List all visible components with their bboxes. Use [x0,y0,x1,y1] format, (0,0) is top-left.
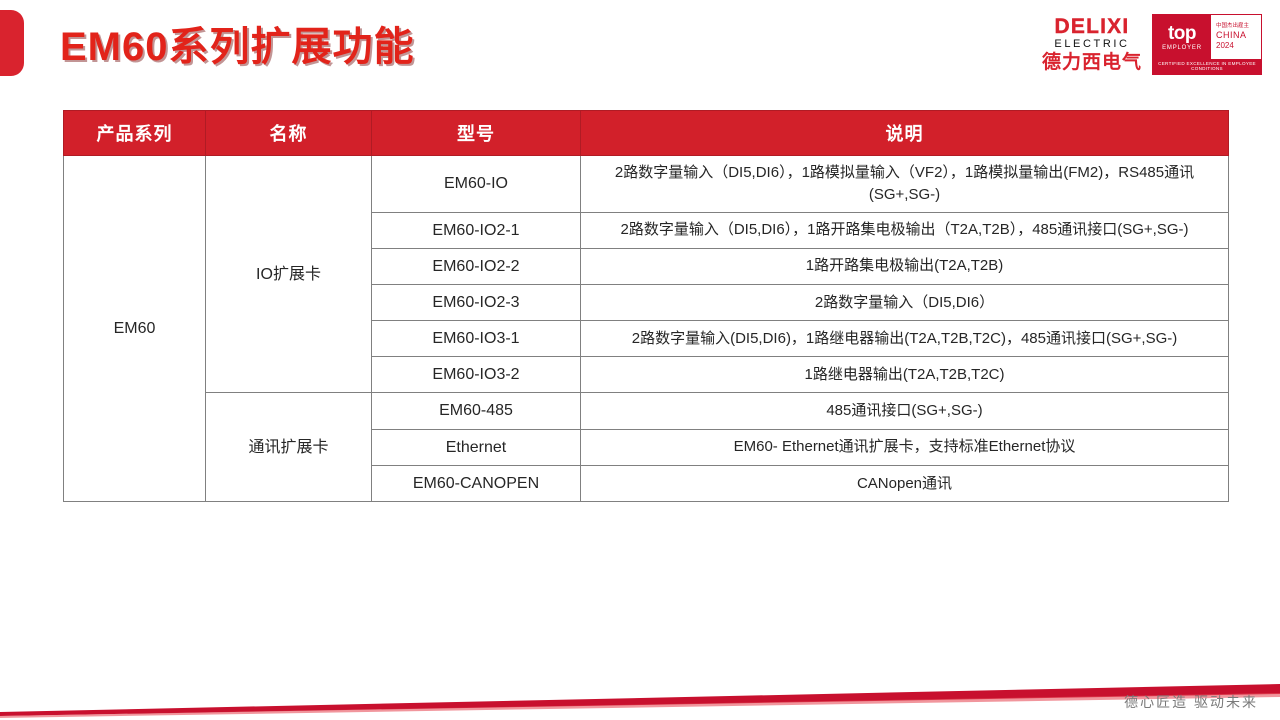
cell-model: Ethernet [372,429,581,465]
column-header-model: 型号 [372,111,581,156]
table-header-row: 产品系列 名称 型号 说明 [64,111,1229,156]
cell-description: 1路开路集电极输出(T2A,T2B) [581,248,1229,284]
top-employer-badge: top EMPLOYER 中国杰出雇主 CHINA 2024 CERTIFIED… [1152,14,1262,75]
top-employer-cn-label: 中国杰出雇主 [1216,23,1261,30]
footer-decorative-line [0,660,1280,720]
cell-description: 2路数字量输入（DI5,DI6） [581,284,1229,320]
table-body: EM60 IO扩展卡 EM60-IO 2路数字量输入（DI5,DI6），1路模拟… [64,156,1229,502]
cell-model: EM60-IO2-1 [372,212,581,248]
top-employer-country: CHINA [1216,30,1261,41]
table-header: 产品系列 名称 型号 说明 [64,111,1229,156]
cell-description: 2路数字量输入（DI5,DI6），1路模拟量输入（VF2），1路模拟量输出(FM… [581,156,1229,213]
cell-model: EM60-IO3-2 [372,357,581,393]
footer-slogan: 德心匠造 驱动未来 [1124,692,1258,712]
top-employer-year: 2024 [1216,41,1261,51]
column-header-name: 名称 [206,111,372,156]
top-employer-badge-main: top EMPLOYER 中国杰出雇主 CHINA 2024 [1153,15,1261,59]
cell-description: CANopen通讯 [581,465,1229,501]
top-employer-badge-details: 中国杰出雇主 CHINA 2024 [1211,15,1261,59]
delixi-brand-cn: 德力西电气 [1042,53,1142,72]
expansion-spec-table: 产品系列 名称 型号 说明 EM60 IO扩展卡 EM60-IO 2路数字量输入… [63,110,1229,502]
cell-product-series: EM60 [64,156,206,502]
cell-model: EM60-IO2-2 [372,248,581,284]
cell-group-name-comm: 通讯扩展卡 [206,393,372,502]
delixi-logo: DELIXI ELECTRIC 德力西电气 [1042,16,1142,72]
cell-description: 1路继电器输出(T2A,T2B,T2C) [581,357,1229,393]
cell-description: EM60- Ethernet通讯扩展卡，支持标准Ethernet协议 [581,429,1229,465]
logo-area: DELIXI ELECTRIC 德力西电气 top EMPLOYER 中国杰出雇… [1042,14,1262,75]
title-accent-bar [0,10,24,76]
cell-model: EM60-IO2-3 [372,284,581,320]
top-employer-employer-text: EMPLOYER [1162,45,1202,51]
column-header-description: 说明 [581,111,1229,156]
table-row: 通讯扩展卡 EM60-485 485通讯接口(SG+,SG-) [64,393,1229,429]
page-title: EM60系列扩展功能 [60,20,415,74]
cell-description: 485通讯接口(SG+,SG-) [581,393,1229,429]
cell-description: 2路数字量输入（DI5,DI6），1路开路集电极输出（T2A,T2B），485通… [581,212,1229,248]
cell-description: 2路数字量输入(DI5,DI6)，1路继电器输出(T2A,T2B,T2C)，48… [581,321,1229,357]
cell-model: EM60-485 [372,393,581,429]
top-employer-badge-mark: top EMPLOYER [1153,15,1211,59]
delixi-brand-sub: ELECTRIC [1054,39,1129,50]
column-header-series: 产品系列 [64,111,206,156]
cell-group-name-io: IO扩展卡 [206,156,372,393]
top-employer-certification: CERTIFIED EXCELLENCE IN EMPLOYEE CONDITI… [1153,59,1261,74]
table-row: EM60 IO扩展卡 EM60-IO 2路数字量输入（DI5,DI6），1路模拟… [64,156,1229,213]
cell-model: EM60-IO [372,156,581,213]
cell-model: EM60-IO3-1 [372,321,581,357]
delixi-brand-en: DELIXI [1055,16,1130,37]
top-employer-top-text: top [1168,24,1196,43]
cell-model: EM60-CANOPEN [372,465,581,501]
